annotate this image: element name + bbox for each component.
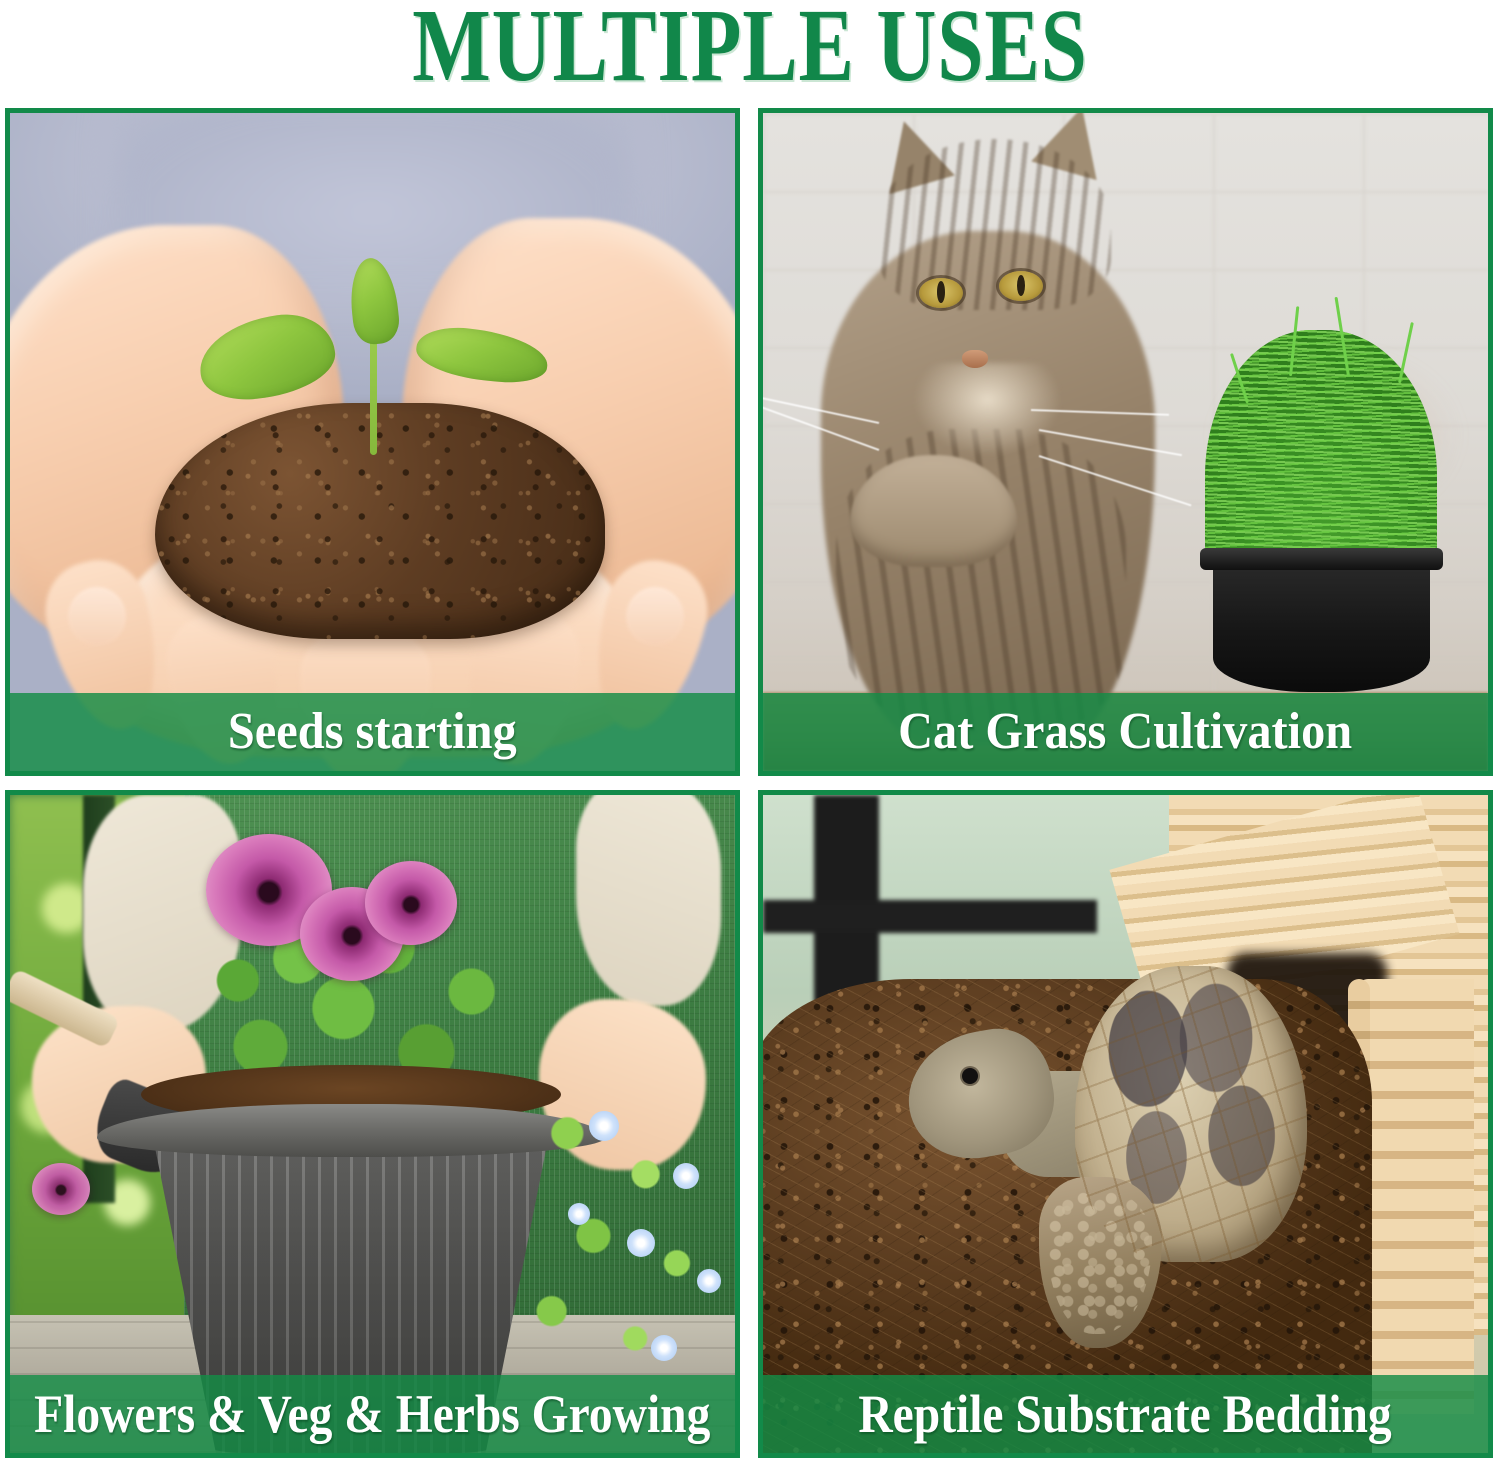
petunia-flower bbox=[32, 1163, 90, 1215]
photo-reptile-substrate-bedding bbox=[763, 795, 1488, 1453]
soil-mound bbox=[155, 403, 605, 640]
blue-flower bbox=[589, 1111, 619, 1141]
nursery-pot bbox=[1213, 560, 1431, 692]
photo-flowers-veg-herbs-growing bbox=[10, 795, 735, 1453]
gardener-arm-right bbox=[576, 795, 721, 1006]
terrarium-crossbar bbox=[763, 900, 1097, 933]
petunia-flower bbox=[365, 861, 457, 945]
caption-text: Flowers & Veg & Herbs Growing bbox=[34, 1386, 710, 1442]
cat-eye-left bbox=[919, 278, 963, 308]
caption-band-flowers-veg-herbs-growing: Flowers & Veg & Herbs Growing bbox=[10, 1375, 735, 1453]
caption-text: Seeds starting bbox=[228, 704, 517, 760]
photo-seeds-starting bbox=[10, 113, 735, 771]
uses-grid: Seeds starting bbox=[5, 108, 1493, 1458]
cat-eye-right bbox=[999, 271, 1043, 301]
hide-log-wall bbox=[1358, 979, 1474, 1413]
pot-rim bbox=[1200, 548, 1443, 570]
use-tile-cat-grass-cultivation[interactable]: Cat Grass Cultivation bbox=[758, 108, 1493, 776]
caption-band-reptile-substrate-bedding: Reptile Substrate Bedding bbox=[763, 1375, 1488, 1453]
blue-flower bbox=[697, 1269, 721, 1293]
caption-band-seeds-starting: Seeds starting bbox=[10, 693, 735, 771]
caption-text: Cat Grass Cultivation bbox=[898, 704, 1352, 760]
multiple-uses-infographic: MULTIPLE USES bbox=[0, 0, 1500, 1472]
tortoise-shell-scutes bbox=[1075, 966, 1307, 1262]
use-tile-reptile-substrate-bedding[interactable]: Reptile Substrate Bedding bbox=[758, 790, 1493, 1458]
page-title: MULTIPLE USES bbox=[150, 0, 1350, 94]
blue-flower bbox=[568, 1203, 590, 1225]
fingernail bbox=[626, 587, 684, 646]
cat-forehead-stripes bbox=[879, 139, 1111, 310]
photo-cat-grass-cultivation bbox=[763, 113, 1488, 771]
blue-flower bbox=[651, 1335, 677, 1361]
caption-band-cat-grass-cultivation: Cat Grass Cultivation bbox=[763, 693, 1488, 771]
fingernail bbox=[68, 587, 126, 646]
use-tile-seeds-starting[interactable]: Seeds starting bbox=[5, 108, 740, 776]
use-tile-flowers-veg-herbs-growing[interactable]: Flowers & Veg & Herbs Growing bbox=[5, 790, 740, 1458]
caption-text: Reptile Substrate Bedding bbox=[859, 1386, 1392, 1442]
trailing-lobelia bbox=[489, 1058, 736, 1400]
